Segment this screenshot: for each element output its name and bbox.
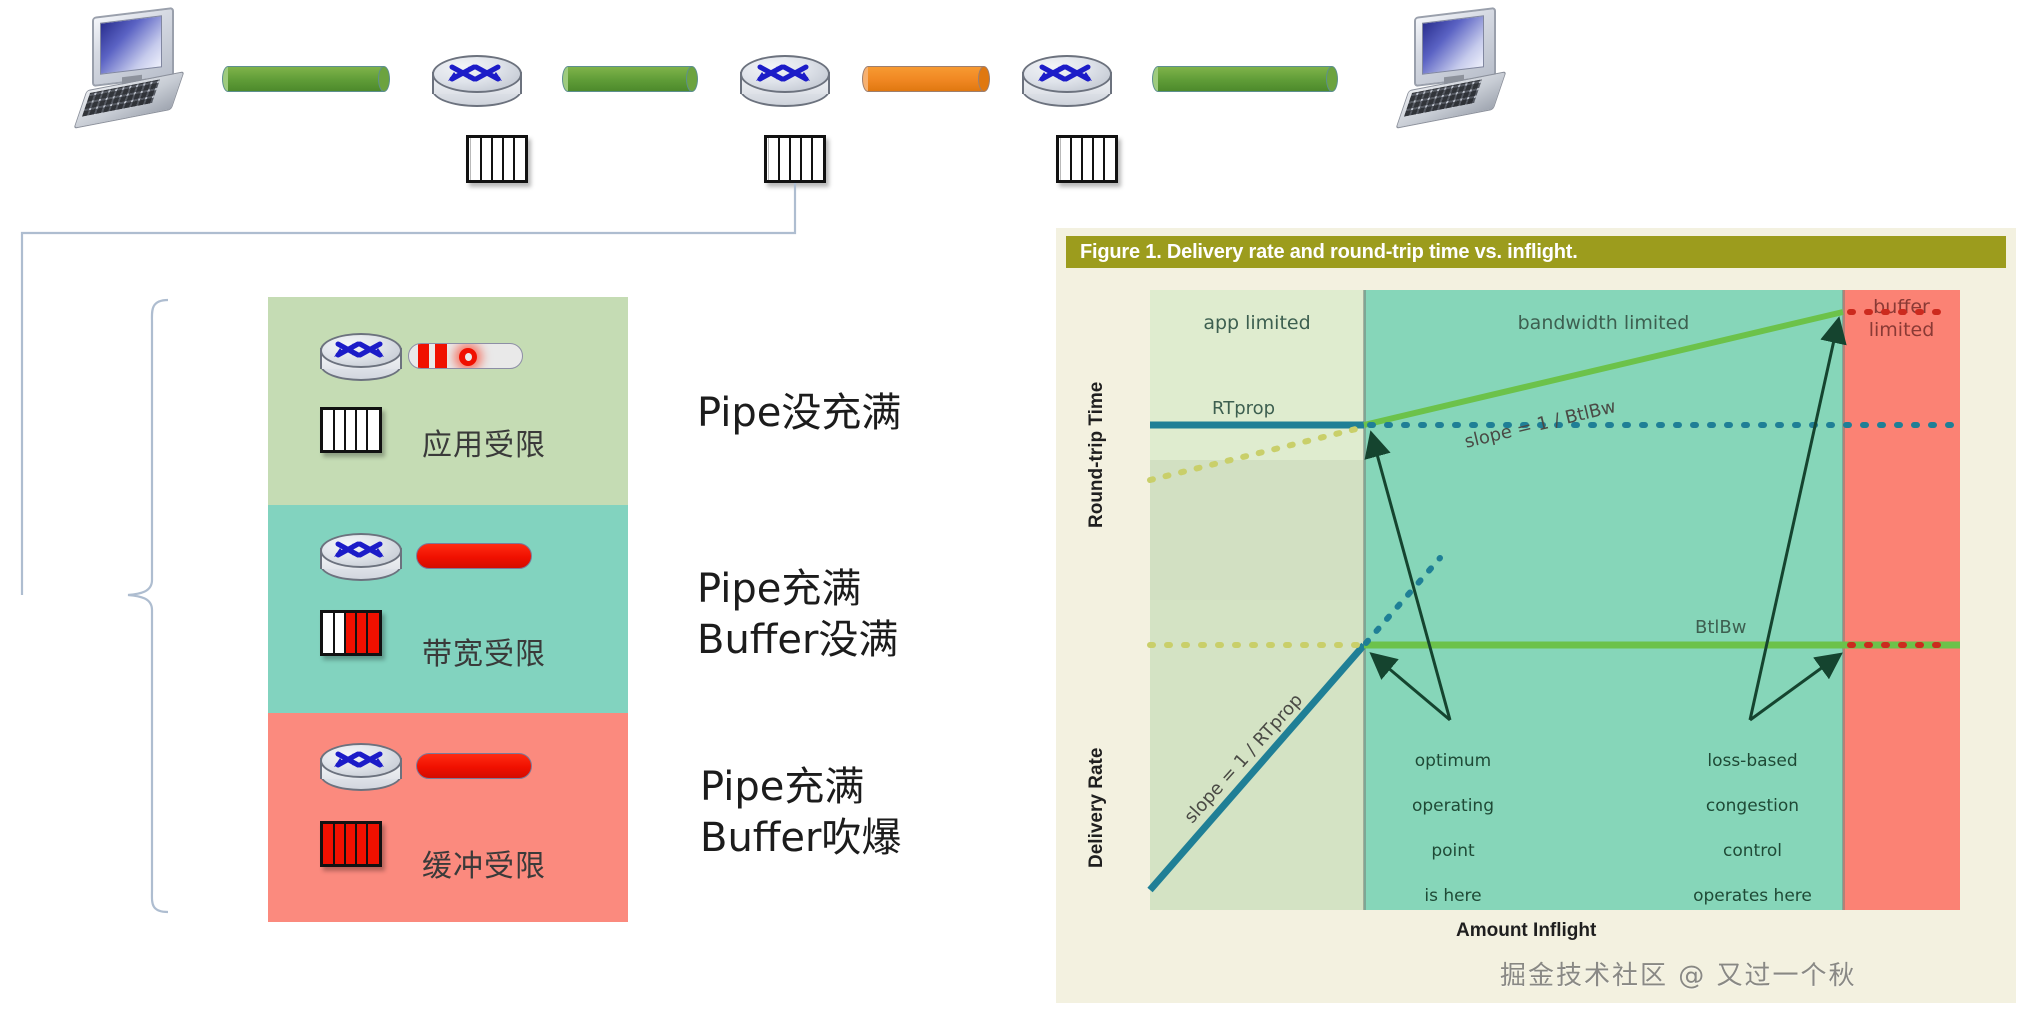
pipe-buffer-limited (416, 753, 532, 779)
description-bandwidth-limited-line1: Pipe充满 (697, 564, 898, 615)
arrow-loss-to-rtt-max (1750, 322, 1838, 720)
description-buffer-limited-line1: Pipe充满 (700, 762, 901, 813)
category-row-buffer-limited: 缓冲受限 (268, 713, 628, 922)
watermark: 掘金技术社区 @ 又过一个秋 (1500, 955, 1857, 992)
dotted-slope-btlbw-extension (1150, 427, 1364, 480)
description-buffer-limited-line2: Buffer吹爆 (700, 813, 901, 864)
plot-area: app limited bandwidth limited buffer lim… (1150, 290, 1960, 910)
category-label-bandwidth-limited: 带宽受限 (422, 629, 546, 673)
router-icon-bandwidth-limited (320, 533, 398, 581)
yaxis-title-rtt: Round-trip Time (1086, 382, 1108, 528)
category-label-app-limited: 应用受限 (422, 420, 546, 464)
queue-router-3 (1056, 135, 1118, 183)
category-row-app-limited: 应用受限 (268, 297, 628, 505)
router-3-icon (1022, 55, 1108, 107)
queue-app-limited (320, 407, 382, 453)
xaxis-title: Amount Inflight (1456, 920, 1596, 942)
link-4-pipe (1152, 66, 1338, 92)
annotation-optimum-operating-point: optimum operating point is here (1368, 728, 1538, 930)
label-btlbw: BtlBw (1695, 617, 1746, 638)
description-app-limited: Pipe没充满 (697, 388, 901, 439)
annotation-optimum-line1: optimum (1368, 750, 1538, 772)
congestion-category-panel: 应用受限 带宽受限 (268, 297, 628, 922)
yaxis-title-rate: Delivery Rate (1086, 748, 1108, 868)
arrow-optimum-to-rtt-knee (1372, 436, 1450, 720)
annotation-loss-line1: loss-based (1645, 750, 1860, 772)
description-buffer-limited: Pipe充满 Buffer吹爆 (700, 762, 901, 864)
description-bandwidth-limited-line2: Buffer没满 (697, 615, 898, 666)
bbr-figure-panel: Figure 1. Delivery rate and round-trip t… (1056, 228, 2016, 1003)
arrow-optimum-to-rate-knee (1374, 656, 1450, 720)
figure-caption: Figure 1. Delivery rate and round-trip t… (1066, 236, 2006, 268)
receiver-host-icon (1400, 10, 1510, 128)
annotation-optimum-line3: point (1368, 840, 1538, 862)
line-slope-rtprop (1150, 645, 1364, 890)
annotation-loss-line3: control (1645, 840, 1860, 862)
pipe-app-limited (408, 343, 523, 369)
annotation-optimum-line4: is here (1368, 885, 1538, 907)
pipe-bandwidth-limited (416, 543, 532, 569)
dotted-slope-rtprop-extension (1366, 558, 1440, 643)
queue-bandwidth-limited (320, 610, 382, 656)
description-bandwidth-limited: Pipe充满 Buffer没满 (697, 564, 898, 666)
annotation-loss-based-cc: loss-based congestion control operates h… (1645, 728, 1860, 930)
queue-buffer-limited (320, 821, 382, 867)
router-icon-app-limited (320, 333, 398, 381)
category-label-buffer-limited: 缓冲受限 (422, 841, 546, 885)
category-row-bandwidth-limited: 带宽受限 (268, 505, 628, 713)
label-rtprop: RTprop (1212, 398, 1275, 419)
annotation-loss-line4: operates here (1645, 885, 1860, 907)
router-icon-buffer-limited (320, 743, 398, 791)
annotation-loss-line2: congestion (1645, 795, 1860, 817)
annotation-optimum-line2: operating (1368, 795, 1538, 817)
